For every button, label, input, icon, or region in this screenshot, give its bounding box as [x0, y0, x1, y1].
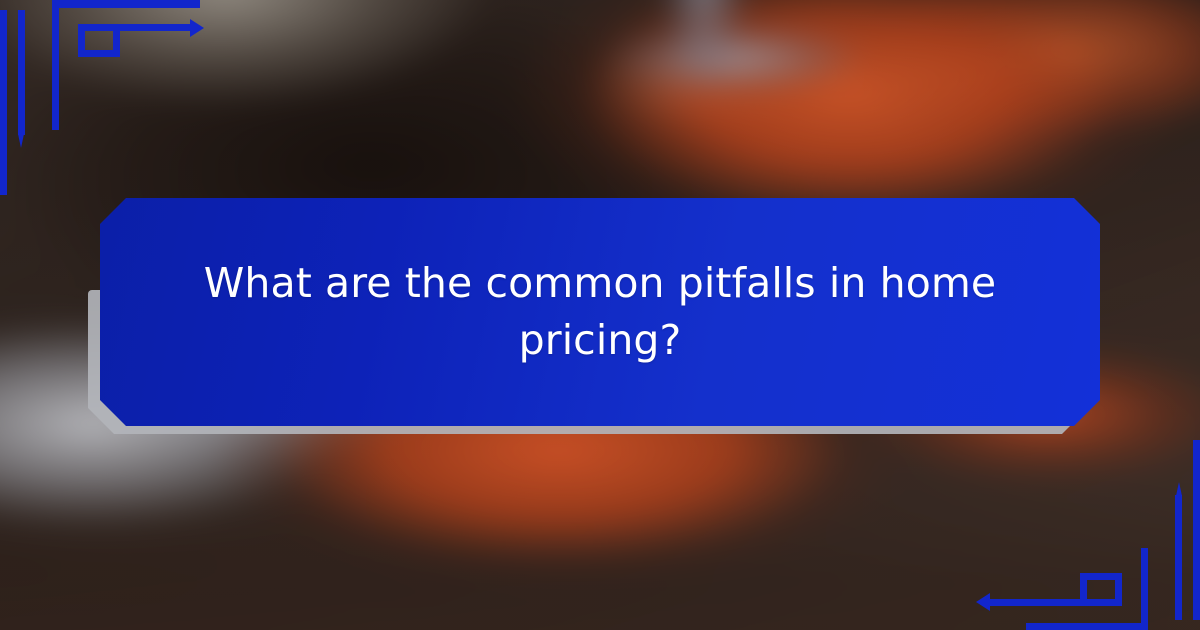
social-card: What are the common pitfalls in home pri… [0, 0, 1200, 630]
title-banner: What are the common pitfalls in home pri… [100, 198, 1100, 426]
page-title: What are the common pitfalls in home pri… [170, 255, 1030, 368]
title-banner-wrapper: What are the common pitfalls in home pri… [100, 198, 1100, 434]
